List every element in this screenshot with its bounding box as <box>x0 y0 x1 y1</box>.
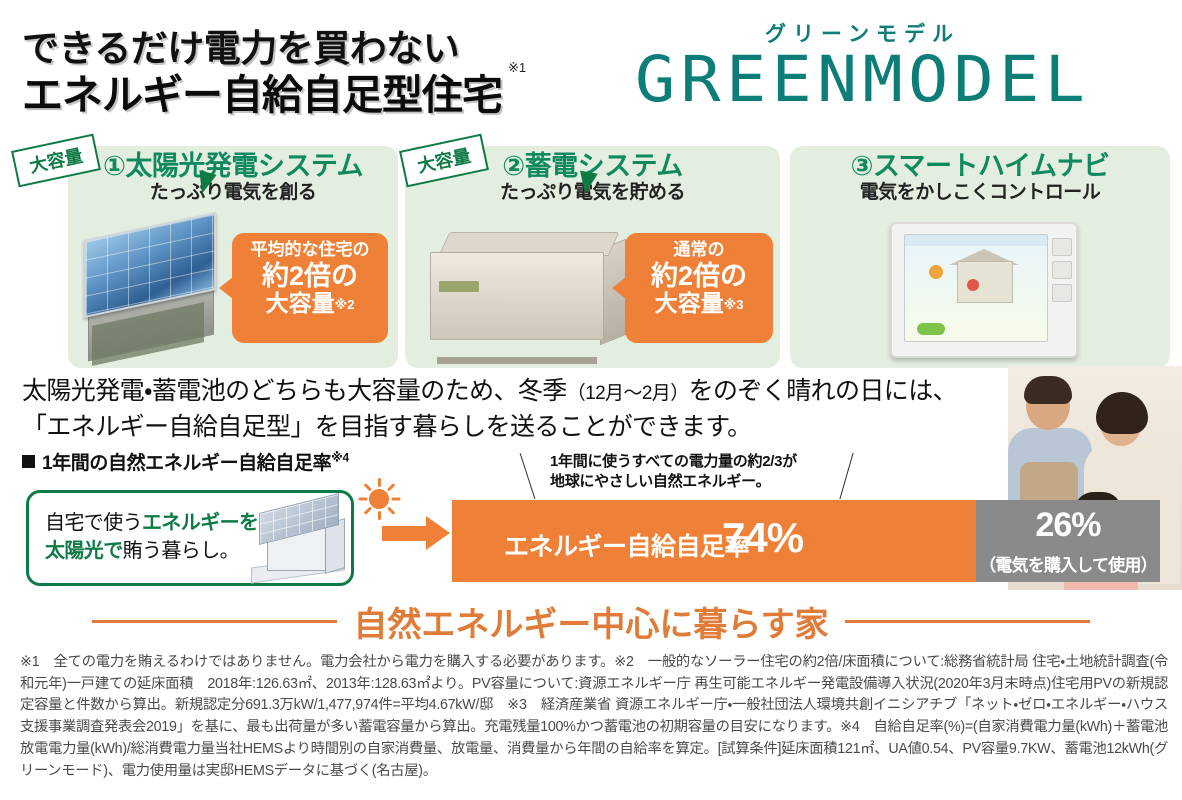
body-line-1b: をのぞく晴れの日には、 <box>689 377 957 405</box>
battery-body <box>430 252 604 340</box>
sun-ray <box>392 498 401 501</box>
capacity-callout-1: 平均的な住宅の 約2倍の 大容量※2 <box>232 233 388 343</box>
annotation-line-1: 1年間に使うすべての電力量の約2/3が <box>550 452 797 472</box>
feature-subtitle-3: 電気をかしこくコントロール <box>790 183 1170 204</box>
battery-label-sticker <box>439 281 479 292</box>
battery-unit-image <box>430 232 626 350</box>
rate-section-heading: 1年間の自然エネルギー自給自足率※4 <box>22 448 349 475</box>
green-box-line-2b: 賄う暮らし。 <box>123 540 239 562</box>
bar-segment-label-orange: エネルギー自給自足率 <box>504 527 749 563</box>
infographic-page: できるだけ電力を買わない エネルギー自給自足型住宅 ※1 グリーンモデル GRE… <box>0 0 1182 800</box>
green-info-box: 自宅で使うエネルギーを 太陽光で賄う暮らし。 <box>26 490 354 586</box>
bullet-square-icon <box>22 455 35 468</box>
navi-button-1 <box>1052 238 1072 256</box>
callout-2-line-3: 大容量※3 <box>635 291 763 316</box>
tagline-rule-left <box>92 620 337 623</box>
headline-line-1: できるだけ電力を買わない <box>22 28 542 71</box>
capacity-badge-pointer-2 <box>576 171 598 196</box>
bar-segment-value-gray: 26% <box>976 506 1160 545</box>
sun-icon <box>358 478 400 520</box>
tagline-rule-right <box>845 620 1090 623</box>
bar-segment-value-orange: 74% <box>722 514 803 562</box>
callout-1-line-3: 大容量※2 <box>242 291 378 316</box>
annotation-line-2: 地球にやさしい自然エネルギー。 <box>550 472 797 492</box>
callout-arrow-1 <box>219 277 233 299</box>
self-sufficiency-bar-chart: エネルギー自給自足率 74% 26% （電気を購入して使用） <box>452 500 1160 582</box>
navi-alert-indicator-icon <box>967 279 979 291</box>
callout-arrow-2 <box>612 277 626 299</box>
body-line-1-months: （12月～2月） <box>567 383 689 404</box>
rate-heading-note: ※4 <box>331 451 349 465</box>
tagline-banner: 自然エネルギー中心に暮らす家 <box>0 598 1182 644</box>
family-father-hair <box>1024 376 1072 404</box>
chart-annotation: 1年間に使うすべての電力量の約2/3が 地球にやさしい自然エネルギー。 <box>550 452 797 493</box>
navi-side-buttons <box>1052 238 1072 307</box>
tagline-text: 自然エネルギー中心に暮らす家 <box>353 597 828 646</box>
body-line-2: 「エネルギー自給自足型」を目指す暮らしを送ることができます。 <box>22 413 752 441</box>
navi-house-icon <box>957 261 1013 303</box>
navi-button-2 <box>1052 261 1072 279</box>
feature-title-1: ①太陽光発電システム <box>68 146 398 181</box>
sun-ray <box>378 478 381 487</box>
green-box-line-2a: 太陽光で <box>45 540 123 562</box>
solar-panel-image <box>78 218 228 358</box>
footnotes-text: ※1 全ての電力を賄えるわけではありません。電力会社から電力を購入する必要があり… <box>20 652 1168 782</box>
navi-status-bar <box>905 235 1047 246</box>
callout-2-line-1: 通常の <box>635 241 763 260</box>
navi-button-3 <box>1052 284 1072 302</box>
callout-2-line-2: 約2倍の <box>635 261 763 291</box>
sun-ray <box>378 511 381 520</box>
solar-house-icon <box>241 499 351 579</box>
annotation-leader-line-right <box>839 453 853 499</box>
headline-block: できるだけ電力を買わない エネルギー自給自足型住宅 <box>22 28 542 119</box>
feature-subtitle-1: たっぷり電気を創る <box>68 183 398 204</box>
bar-segment-self-sufficiency: エネルギー自給自足率 74% <box>452 500 976 582</box>
body-line-1a: 太陽光発電・蓄電池のどちらも大容量のため、冬季 <box>22 377 567 405</box>
bar-segment-purchased: 26% （電気を購入して使用） <box>976 500 1160 582</box>
green-box-line-1a: 自宅で使う <box>45 512 142 534</box>
flow-arrow-icon <box>382 516 452 550</box>
sun-ray <box>387 483 395 491</box>
headline-footnote-marker: ※1 <box>508 60 526 76</box>
sun-ray <box>359 498 368 501</box>
rate-heading-text: 1年間の自然エネルギー自給自足率 <box>42 453 331 474</box>
navi-eco-indicator-icon <box>917 323 945 335</box>
navi-sun-indicator-icon <box>929 265 943 279</box>
callout-1-line-2: 約2倍の <box>242 261 378 291</box>
annotation-leader-line-left <box>520 453 536 499</box>
capacity-callout-2: 通常の 約2倍の 大容量※3 <box>625 233 773 343</box>
feature-title-3: ③スマートハイムナビ <box>790 146 1170 181</box>
arrow-head <box>426 516 450 550</box>
arrow-stem <box>382 526 428 541</box>
body-paragraph: 太陽光発電・蓄電池のどちらも大容量のため、冬季（12月～2月）をのぞく晴れの日に… <box>22 373 1022 446</box>
sun-ray <box>387 506 395 514</box>
green-box-text: 自宅で使うエネルギーを 太陽光で賄う暮らし。 <box>45 509 258 565</box>
sun-core <box>369 489 389 509</box>
headline-line-2: エネルギー自給自足型住宅 <box>22 73 542 119</box>
sun-ray <box>364 506 372 514</box>
logo-wordmark: GREENMODEL <box>542 48 1182 111</box>
battery-foot <box>437 357 597 364</box>
callout-2-note: ※3 <box>724 297 744 312</box>
callout-1-line-1: 平均的な住宅の <box>242 241 378 260</box>
callout-1-note: ※2 <box>335 297 355 312</box>
navi-screen <box>904 234 1048 342</box>
bar-segment-label-gray: （電気を購入して使用） <box>976 551 1160 576</box>
greenmodel-logo: グリーンモデル GREENMODEL <box>560 24 1165 111</box>
smart-navi-image <box>890 222 1078 358</box>
logo-kana-text: グリーンモデル <box>560 24 1165 45</box>
sun-ray <box>364 483 372 491</box>
